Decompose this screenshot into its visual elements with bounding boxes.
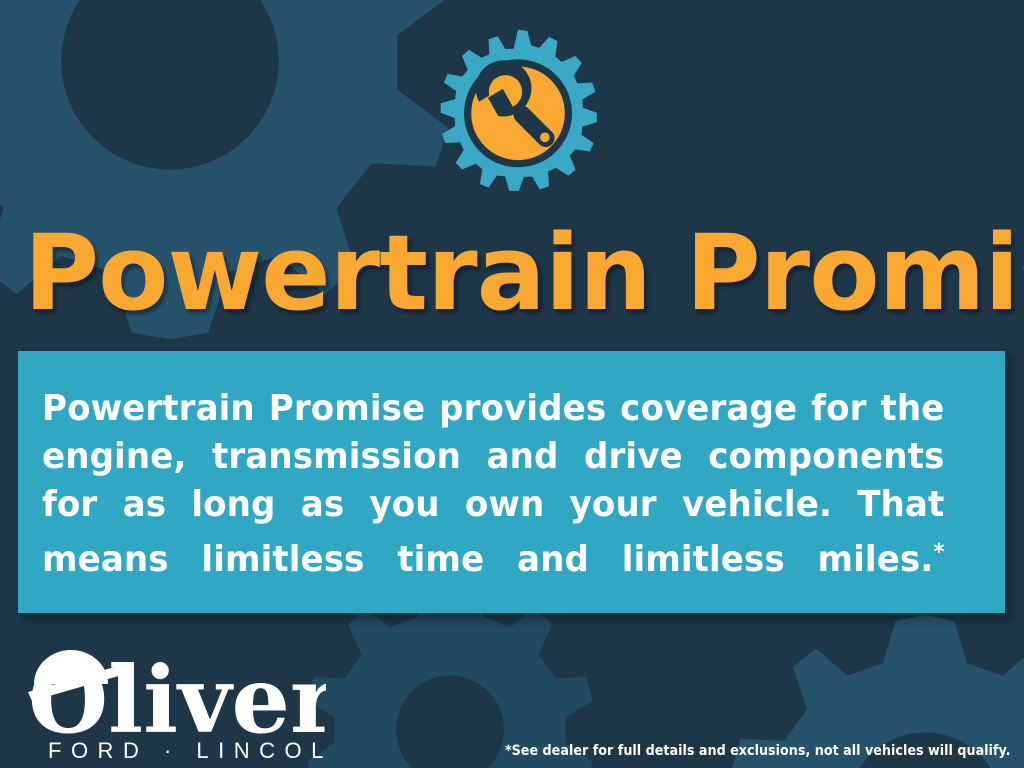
gear-wrench-icon	[428, 26, 608, 206]
dealer-logo: Oliver FORD · LINCOLN	[26, 636, 326, 762]
promo-slide: Powertrain Promise Powertrain Promise pr…	[0, 0, 1024, 768]
page-title: Powertrain Promise	[24, 218, 993, 328]
footnote-marker: *	[933, 540, 944, 565]
background-gear-top-left-icon	[0, 0, 490, 410]
description-callout: Powertrain Promise provides coverage for…	[18, 351, 1005, 613]
description-body: Powertrain Promise provides coverage for…	[42, 388, 944, 580]
logo-subtitle: FORD · LINCOLN	[48, 738, 326, 762]
description-text: Powertrain Promise provides coverage for…	[42, 385, 944, 632]
disclaimer-text: *See dealer for full details and exclusi…	[504, 742, 1010, 760]
